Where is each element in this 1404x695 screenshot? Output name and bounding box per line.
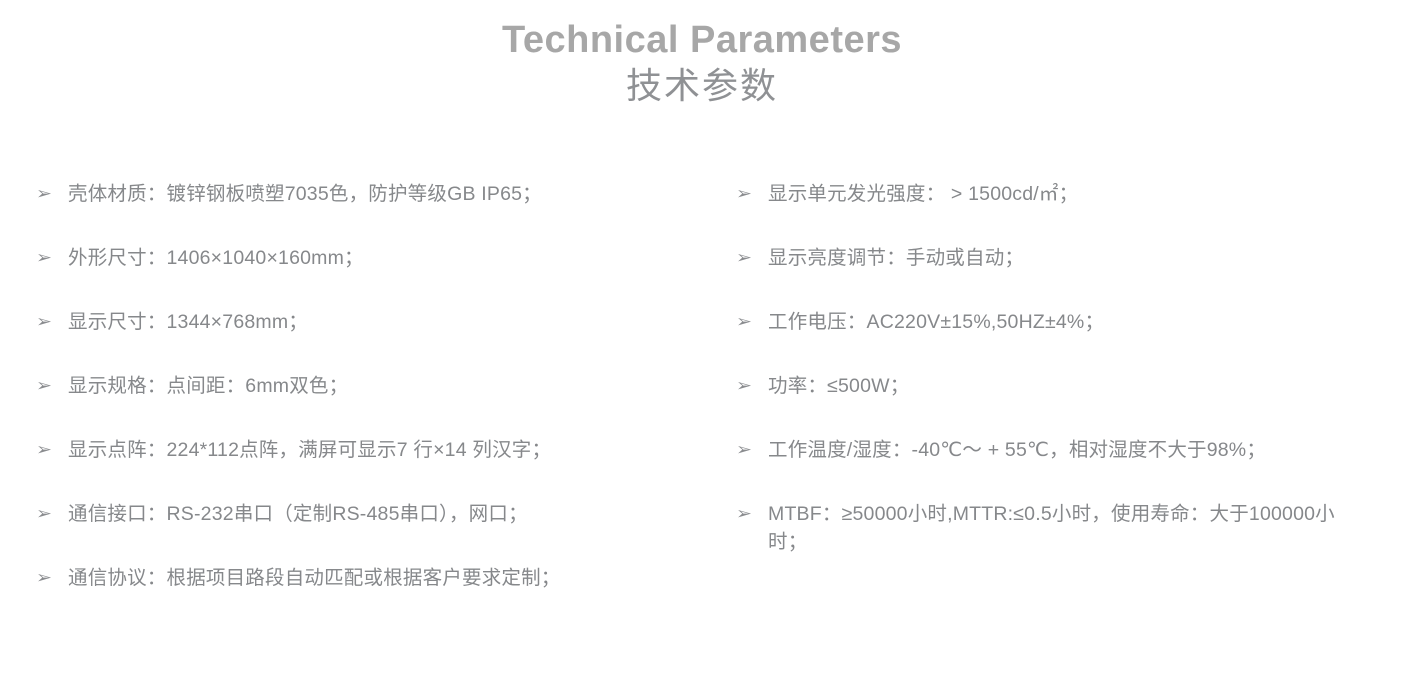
list-item: ➢ 功率：≤500W； bbox=[736, 372, 1404, 436]
list-item: ➢ 通信协议：根据项目路段自动匹配或根据客户要求定制； bbox=[36, 564, 730, 628]
spec-text-communication-interface: 通信接口：RS-232串口（定制RS-485串口），网口； bbox=[68, 500, 730, 528]
list-item: ➢ 显示尺寸：1344×768mm； bbox=[36, 308, 730, 372]
arrow-bullet-icon: ➢ bbox=[736, 436, 772, 464]
arrow-bullet-icon: ➢ bbox=[36, 372, 72, 400]
spec-text-display-spec: 显示规格：点间距：6mm双色； bbox=[68, 372, 730, 400]
spec-text-communication-protocol: 通信协议：根据项目路段自动匹配或根据客户要求定制； bbox=[68, 564, 730, 592]
page-title-chinese: 技术参数 bbox=[0, 63, 1404, 112]
arrow-bullet-icon: ➢ bbox=[736, 372, 772, 400]
arrow-bullet-icon: ➢ bbox=[736, 180, 772, 208]
arrow-bullet-icon: ➢ bbox=[36, 436, 72, 464]
spec-text-working-voltage: 工作电压：AC220V±15%,50HZ±4%； bbox=[768, 308, 1358, 336]
arrow-bullet-icon: ➢ bbox=[36, 308, 72, 336]
spec-text-dot-matrix: 显示点阵：224*112点阵，满屏可显示7 行×14 列汉字； bbox=[68, 436, 730, 464]
list-item: ➢ 通信接口：RS-232串口（定制RS-485串口），网口； bbox=[36, 500, 730, 564]
list-item: ➢ 外形尺寸：1406×1040×160mm； bbox=[36, 244, 730, 308]
arrow-bullet-icon: ➢ bbox=[36, 500, 72, 528]
list-item: ➢ 工作温度/湿度：-40℃～ + 55℃，相对湿度不大于98%； bbox=[736, 436, 1404, 500]
spec-text-display-size: 显示尺寸：1344×768mm； bbox=[68, 308, 730, 336]
spec-text-housing-material: 壳体材质：镀锌钢板喷塑7035色，防护等级GB IP65； bbox=[68, 180, 730, 208]
arrow-bullet-icon: ➢ bbox=[736, 308, 772, 336]
spec-text-power: 功率：≤500W； bbox=[768, 372, 1358, 400]
spec-text-brightness-adjustment: 显示亮度调节：手动或自动； bbox=[768, 244, 1358, 272]
list-item: ➢ MTBF：≥50000小时,MTTR:≤0.5小时，使用寿命：大于10000… bbox=[736, 500, 1404, 590]
arrow-bullet-icon: ➢ bbox=[36, 180, 72, 208]
page-header: Technical Parameters 技术参数 bbox=[0, 0, 1404, 111]
list-item: ➢ 工作电压：AC220V±15%,50HZ±4%； bbox=[736, 308, 1404, 372]
spec-text-mtbf-mttr: MTBF：≥50000小时,MTTR:≤0.5小时，使用寿命：大于100000小… bbox=[768, 500, 1358, 556]
list-item: ➢ 显示规格：点间距：6mm双色； bbox=[36, 372, 730, 436]
spec-column-left: ➢ 壳体材质：镀锌钢板喷塑7035色，防护等级GB IP65； ➢ 外形尺寸：1… bbox=[0, 180, 730, 628]
arrow-bullet-icon: ➢ bbox=[36, 564, 72, 592]
list-item: ➢ 显示亮度调节：手动或自动； bbox=[736, 244, 1404, 308]
spec-text-outer-dimensions: 外形尺寸：1406×1040×160mm； bbox=[68, 244, 730, 272]
spec-text-luminous-intensity: 显示单元发光强度： > 1500cd/㎡； bbox=[768, 180, 1358, 208]
spec-column-right: ➢ 显示单元发光强度： > 1500cd/㎡； ➢ 显示亮度调节：手动或自动； … bbox=[730, 180, 1404, 590]
list-item: ➢ 显示单元发光强度： > 1500cd/㎡； bbox=[736, 180, 1404, 244]
list-item: ➢ 显示点阵：224*112点阵，满屏可显示7 行×14 列汉字； bbox=[36, 436, 730, 500]
arrow-bullet-icon: ➢ bbox=[736, 500, 772, 528]
page-title-english: Technical Parameters bbox=[0, 18, 1404, 63]
list-item: ➢ 壳体材质：镀锌钢板喷塑7035色，防护等级GB IP65； bbox=[36, 180, 730, 244]
arrow-bullet-icon: ➢ bbox=[36, 244, 72, 272]
arrow-bullet-icon: ➢ bbox=[736, 244, 772, 272]
spec-text-temperature-humidity: 工作温度/湿度：-40℃～ + 55℃，相对湿度不大于98%； bbox=[768, 436, 1358, 464]
specifications-container: ➢ 壳体材质：镀锌钢板喷塑7035色，防护等级GB IP65； ➢ 外形尺寸：1… bbox=[0, 180, 1404, 628]
